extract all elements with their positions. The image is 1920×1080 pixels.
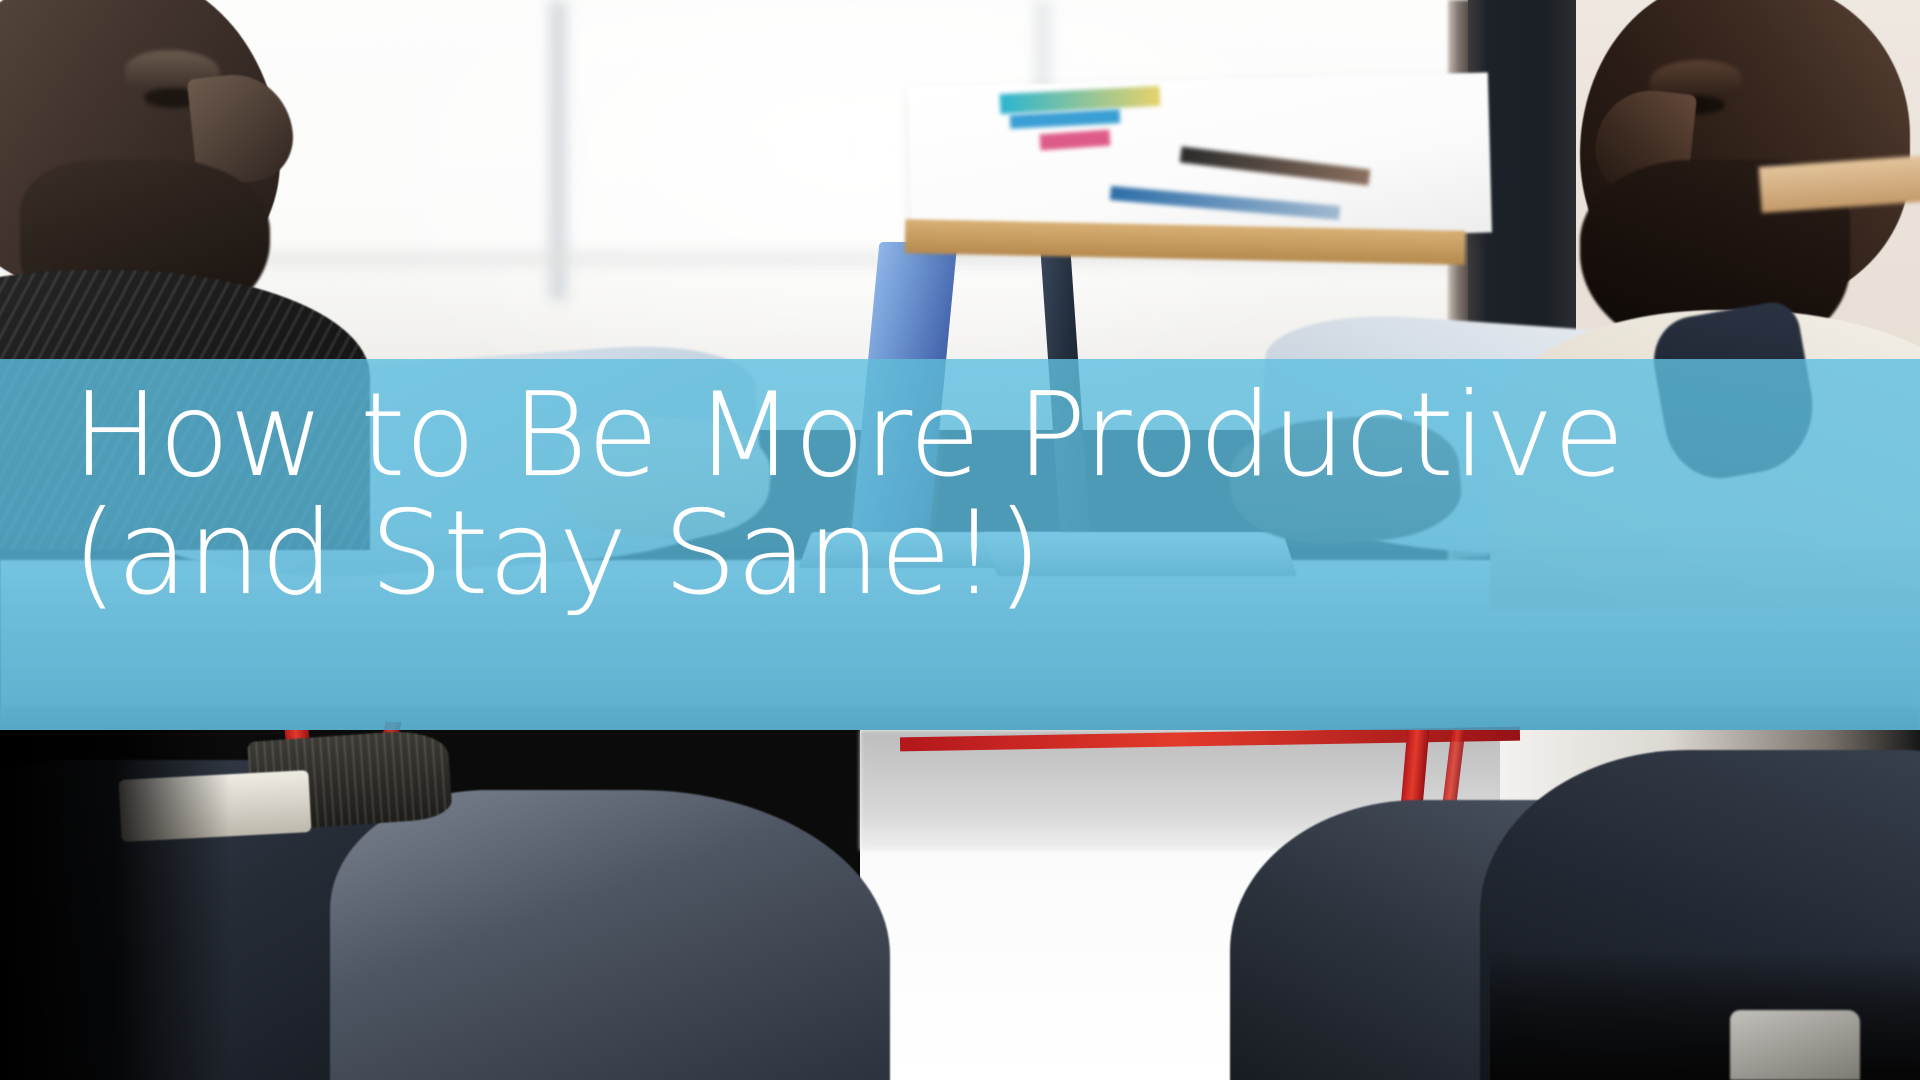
- banner-graphic: How to Be More Productive (and Stay Sane…: [0, 0, 1920, 1080]
- jeans-left-far: [330, 790, 890, 1080]
- left-shadow-vignette: [0, 730, 230, 1080]
- page-title: How to Be More Productive (and Stay Sane…: [72, 377, 1624, 614]
- bottom-right-object: [1730, 1010, 1860, 1080]
- title-banner: How to Be More Productive (and Stay Sane…: [0, 359, 1920, 730]
